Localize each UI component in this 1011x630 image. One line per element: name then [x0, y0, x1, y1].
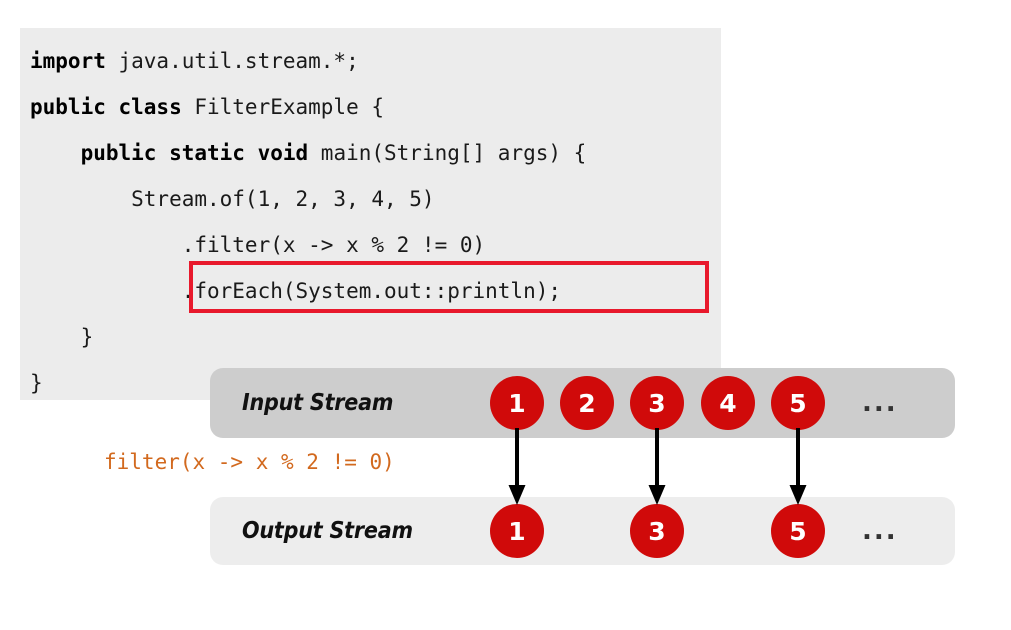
code-line: public static void main(String[] args) { — [30, 130, 721, 176]
stream-token: 3 — [630, 376, 684, 430]
code-line: } — [30, 314, 721, 360]
input-ellipsis: ... — [862, 388, 898, 418]
filter-operation-caption: filter(x -> x % 2 != 0) — [104, 450, 395, 474]
output-stream-panel: Output Stream 135 ... — [210, 497, 955, 565]
code-line: Stream.of(1, 2, 3, 4, 5) — [30, 176, 721, 222]
code-keyword: import — [30, 49, 106, 73]
stream-token: 1 — [490, 376, 544, 430]
code-line: public class FilterExample { — [30, 84, 721, 130]
code-text: } — [30, 371, 43, 395]
flow-arrow — [649, 428, 666, 505]
code-text: .forEach(System.out::println); — [30, 279, 561, 303]
input-stream-label: Input Stream — [242, 390, 393, 416]
stream-token: 5 — [771, 504, 825, 558]
code-text: .filter(x -> x % 2 != 0) — [30, 233, 485, 257]
code-text: } — [30, 325, 93, 349]
stream-token: 4 — [701, 376, 755, 430]
stream-token: 5 — [771, 376, 825, 430]
stream-token: 3 — [630, 504, 684, 558]
stream-token: 2 — [560, 376, 614, 430]
code-line: .forEach(System.out::println); — [30, 268, 721, 314]
code-line: import java.util.stream.*; — [30, 38, 721, 84]
code-keyword: public static void — [30, 141, 308, 165]
stream-token: 1 — [490, 504, 544, 558]
code-text: main(String[] args) { — [308, 141, 586, 165]
code-text: Stream.of(1, 2, 3, 4, 5) — [30, 187, 435, 211]
code-keyword: public class — [30, 95, 182, 119]
code-text: FilterExample { — [182, 95, 384, 119]
code-text: java.util.stream.*; — [106, 49, 359, 73]
input-stream-panel: Input Stream 12345 ... — [210, 368, 955, 438]
flow-arrow — [509, 428, 526, 505]
output-stream-label: Output Stream — [242, 518, 413, 544]
output-ellipsis: ... — [862, 516, 898, 546]
flow-arrow — [790, 428, 807, 505]
code-line: .filter(x -> x % 2 != 0) — [30, 222, 721, 268]
code-block: import java.util.stream.*;public class F… — [20, 28, 721, 400]
